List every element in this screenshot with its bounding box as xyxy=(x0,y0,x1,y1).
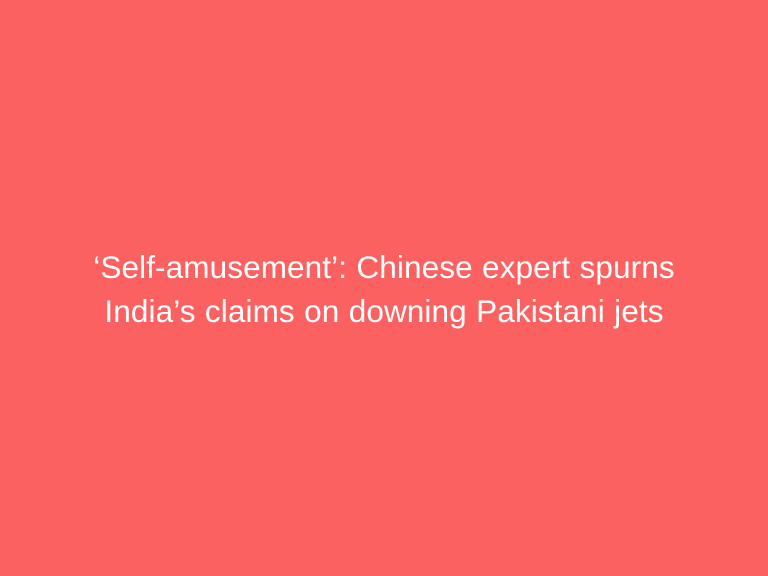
page-title: ‘Self-amusement’: Chinese expert spurns … xyxy=(82,245,686,333)
headline-text-block: ‘Self-amusement’: Chinese expert spurns … xyxy=(74,245,694,333)
headline-card: ‘Self-amusement’: Chinese expert spurns … xyxy=(0,0,768,576)
